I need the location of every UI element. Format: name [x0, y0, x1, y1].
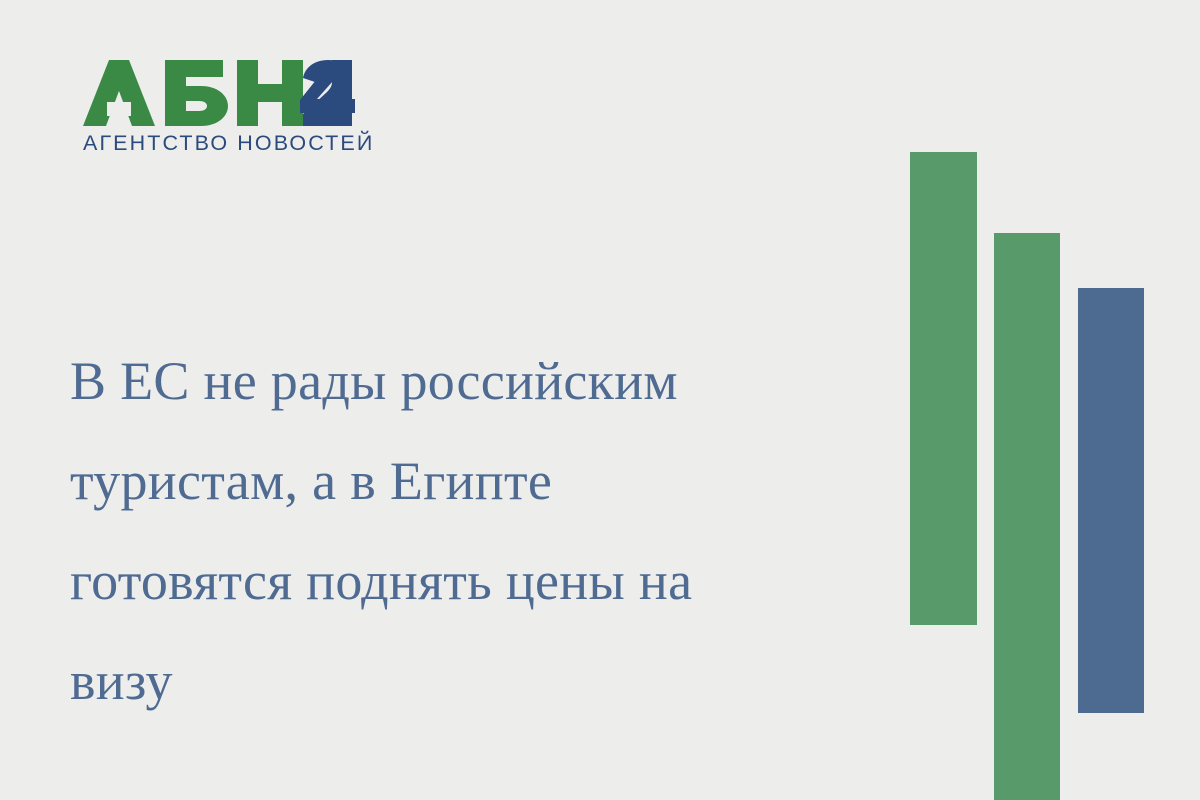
headline-line-1: В ЕС не рады российским: [70, 332, 870, 432]
news-card: АГЕНТСТВО НОВОСТЕЙ В ЕС не рады российск…: [0, 0, 1200, 800]
headline-line-4: визу: [70, 632, 870, 732]
logo-tagline: АГЕНТСТВО НОВОСТЕЙ: [83, 133, 373, 155]
chart-bar-3: [1078, 288, 1144, 713]
abn24-logo: АГЕНТСТВО НОВОСТЕЙ: [83, 60, 373, 155]
chart-bar-2: [994, 233, 1060, 800]
headline-line-3: готовятся поднять цены на: [70, 532, 870, 632]
headline: В ЕС не рады российским туристам, а в Ег…: [70, 332, 870, 732]
headline-line-2: туристам, а в Египте: [70, 432, 870, 532]
logo-wordmark-icon: [83, 60, 355, 126]
chart-bar-1: [910, 152, 977, 625]
